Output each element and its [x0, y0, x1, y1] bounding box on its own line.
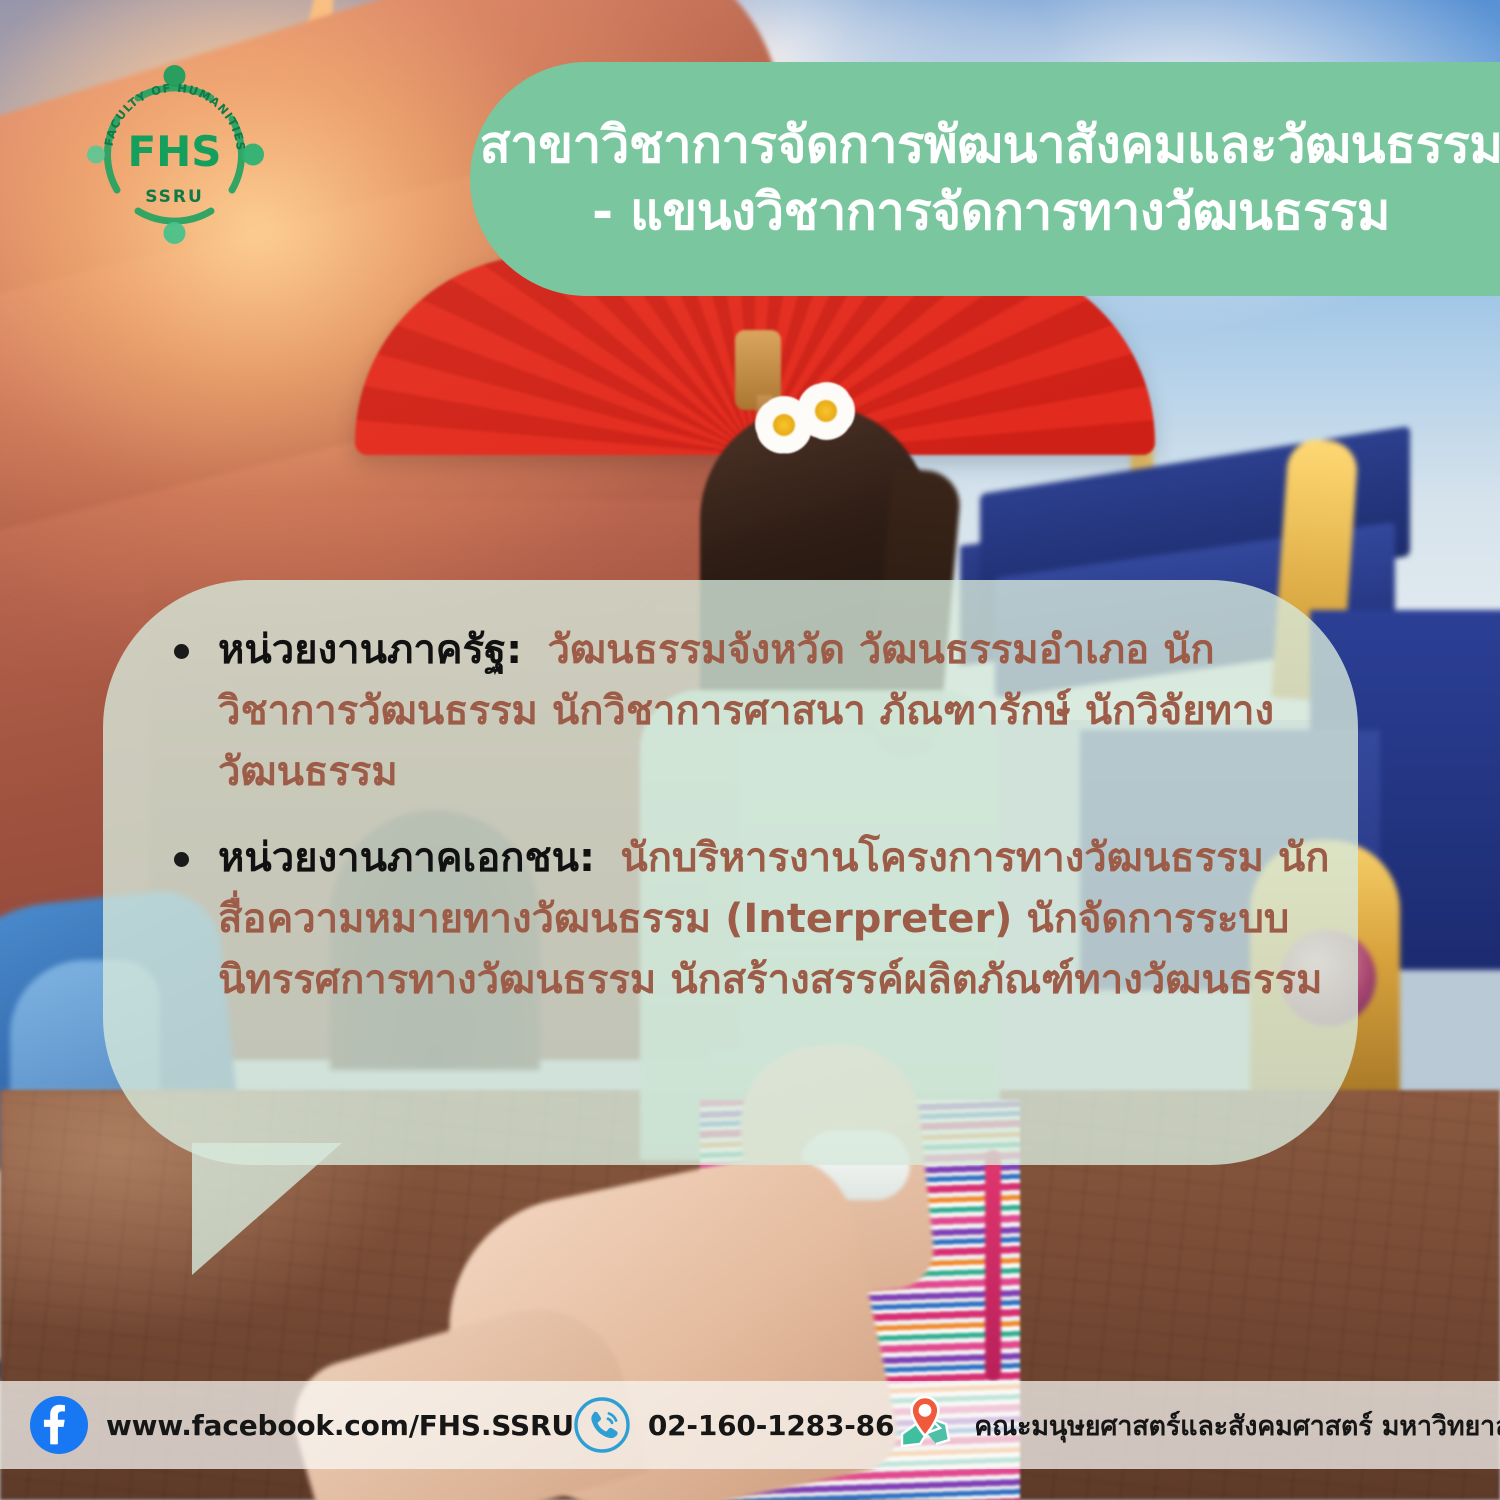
list-item: หน่วยงานภาคเอกชน: นักบริหารงานโครงการทาง…: [150, 828, 1330, 1010]
address-contact: คณะมนุษยศาสตร์และสังคมศาสตร์ มหาวิทยาลัย…: [894, 1394, 1500, 1456]
facebook-icon[interactable]: [30, 1396, 88, 1454]
facebook-url[interactable]: www.facebook.com/FHS.SSRU: [106, 1409, 574, 1442]
header-banner: สาขาวิชาการจัดการพัฒนาสังคมและวัฒนธรรม -…: [470, 62, 1500, 296]
frangipani-flower-right: [790, 378, 862, 444]
address-text: คณะมนุษยศาสตร์และสังคมศาสตร์ มหาวิทยาลัย…: [974, 1404, 1500, 1447]
page-title-line-2: - แขนงวิชาการจัดการทางวัฒนธรรม: [592, 179, 1390, 246]
logo-node-bottom: [164, 222, 186, 244]
poster-canvas: FACULTY OF HUMANITIES AND SOCIAL SCIENCE…: [0, 0, 1500, 1500]
list-item: หน่วยงานภาครัฐ: วัฒนธรรมจังหวัด วัฒนธรรม…: [150, 620, 1330, 802]
map-pin-icon: [894, 1394, 956, 1456]
logo-node-left: [87, 146, 105, 164]
skirt-tassel: [985, 1150, 1001, 1380]
sector-label-public: หน่วยงานภาครัฐ:: [218, 627, 522, 673]
page-title-line-1: สาขาวิชาการจัดการพัฒนาสังคมและวัฒนธรรม: [479, 112, 1500, 179]
sector-label-private: หน่วยงานภาคเอกชน:: [218, 835, 595, 881]
svg-text:FHS: FHS: [127, 127, 221, 176]
speech-bubble-tail: [192, 1143, 342, 1275]
phone-number[interactable]: 02-160-1283-86: [648, 1409, 894, 1442]
facebook-contact[interactable]: www.facebook.com/FHS.SSRU: [30, 1396, 574, 1454]
contact-footer-bar: www.facebook.com/FHS.SSRU 02-160-1283-86: [0, 1381, 1500, 1469]
svg-text:SSRU: SSRU: [145, 187, 204, 207]
career-list-container: หน่วยงานภาครัฐ: วัฒนธรรมจังหวัด วัฒนธรรม…: [150, 620, 1330, 1011]
career-list: หน่วยงานภาครัฐ: วัฒนธรรมจังหวัด วัฒนธรรม…: [150, 620, 1330, 1011]
fhs-ssru-logo: FACULTY OF HUMANITIES AND SOCIAL SCIENCE…: [82, 62, 267, 247]
logo-icon: FACULTY OF HUMANITIES AND SOCIAL SCIENCE…: [82, 62, 267, 247]
phone-contact[interactable]: 02-160-1283-86: [574, 1397, 894, 1453]
phone-icon[interactable]: [574, 1397, 630, 1453]
